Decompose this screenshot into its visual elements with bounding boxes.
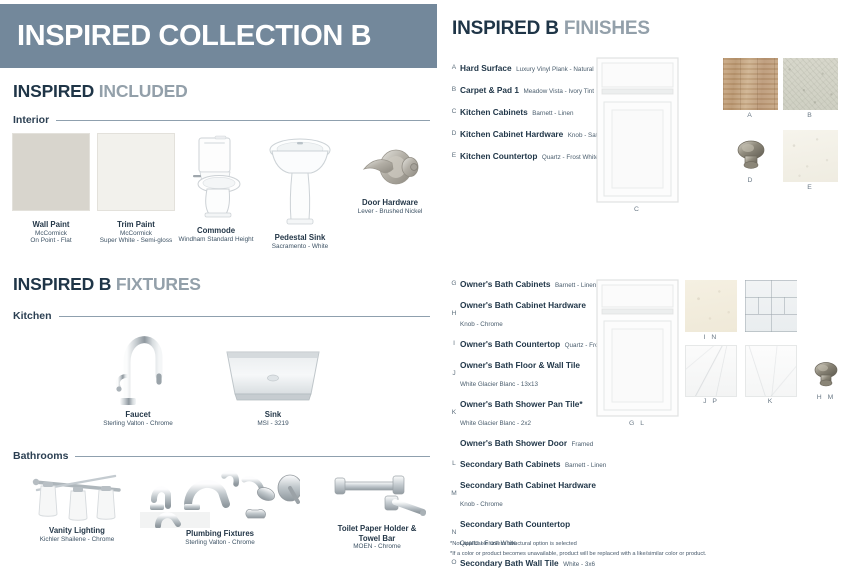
finish-letter: C xyxy=(448,108,460,115)
product-desc-1: Windham Standard Height xyxy=(174,236,258,244)
product-faucet: Faucet Sterling Valton - Chrome xyxy=(88,318,188,427)
finish-sub: Barnett - Linen xyxy=(532,110,573,117)
finish-sub: White - 3x6 xyxy=(563,561,595,568)
left-column: INSPIRED COLLECTION B INSPIRED INCLUDED … xyxy=(0,0,440,569)
door-lever-icon xyxy=(344,138,436,198)
finish-name: Kitchen Countertop xyxy=(460,151,537,161)
page-title: INSPIRED COLLECTION B xyxy=(0,20,371,53)
section-heading-included: INSPIRED INCLUDED xyxy=(13,81,188,102)
swatch-letter: G L xyxy=(595,418,680,427)
section-heading-finishes: INSPIRED B FINISHES xyxy=(452,18,650,40)
heading-word-2: INCLUDED xyxy=(99,81,188,101)
swatch-marble-floor-tile: J P xyxy=(685,345,737,397)
finish-sub: White Glacier Blanc - 2x2 xyxy=(460,420,531,427)
product-toilet-paper-holder: Toilet Paper Holder & Towel Bar MOEN - C… xyxy=(314,470,440,551)
swatch-letter: J P xyxy=(686,396,736,405)
finish-letter: M xyxy=(448,490,460,497)
finish-sub: White Glacier Blanc - 13x13 xyxy=(460,381,538,388)
swatch-subway-tile: O xyxy=(745,280,797,332)
finish-name: Owner's Bath Shower Pan Tile* xyxy=(460,399,583,409)
swatch-cabinet-door-top: C xyxy=(595,56,680,204)
finish-name: Kitchen Cabinets xyxy=(460,107,528,117)
heading-word-2: FINISHES xyxy=(564,18,650,39)
collection-title-bar: INSPIRED COLLECTION B xyxy=(0,4,437,68)
product-name: Wall Paint xyxy=(12,220,90,230)
interior-label: Interior xyxy=(13,114,56,126)
finish-letter: H xyxy=(448,310,460,317)
swatch-letter: B xyxy=(783,110,838,119)
footnote-1: *Not applicable unless structural option… xyxy=(450,540,850,549)
product-desc-1: McCormick xyxy=(97,230,175,238)
product-desc-1: MSI - 3219 xyxy=(218,420,328,428)
finish-sub: Luxury Vinyl Plank - Natural xyxy=(516,66,594,73)
finish-name: Kitchen Cabinet Hardware xyxy=(460,129,563,139)
divider-line xyxy=(56,120,430,121)
product-trim-paint: Trim Paint McCormick Super White - Semi-… xyxy=(97,133,175,245)
finish-sub: Framed xyxy=(572,441,594,448)
product-vanity-lighting: Vanity Lighting Kichler Shailene - Chrom… xyxy=(22,468,132,543)
kitchen-sink-icon-svg xyxy=(221,344,325,406)
footnote-2: *If a color or product becomes unavailab… xyxy=(450,550,850,559)
swatch-quartz-bath: I N xyxy=(685,280,737,332)
toilet-icon xyxy=(174,132,258,220)
towel-bar-icon xyxy=(314,470,440,524)
swatch-wood-plank: A xyxy=(723,58,778,110)
kitchen-sink-icon xyxy=(218,340,328,406)
swatch-cabinet-door-bottom: G L xyxy=(595,278,680,418)
collection-sheet: INSPIRED COLLECTION B INSPIRED INCLUDED … xyxy=(0,0,853,569)
finish-name: Secondary Bath Countertop xyxy=(460,519,570,529)
finish-sub: Knob - Chrome xyxy=(460,321,503,328)
swatch-letter: H M xyxy=(805,392,847,401)
finish-letter: E xyxy=(448,152,460,159)
finish-letter: B xyxy=(448,86,460,93)
finish-letter: N xyxy=(448,529,460,536)
finish-item: M Secondary Bath Cabinet Hardware Knob -… xyxy=(448,475,628,511)
heading-word-1: INSPIRED B xyxy=(13,274,111,294)
toilet-icon-svg xyxy=(185,134,247,220)
swatch-letter: C xyxy=(595,204,680,213)
swatch-letter: K xyxy=(746,396,796,405)
footnotes: *Not applicable unless structural option… xyxy=(450,540,850,559)
finish-name: Owner's Bath Countertop xyxy=(460,339,560,349)
cabinet-knob-icon xyxy=(725,135,777,175)
interior-subheading: Interior xyxy=(13,114,430,126)
product-desc-2: MOEN - Chrome xyxy=(314,543,440,551)
finish-sub: Quartz - Frost White xyxy=(542,154,599,161)
pedestal-sink-icon xyxy=(258,128,342,228)
finish-name: Secondary Bath Cabinets xyxy=(460,459,561,469)
product-name-line2: Towel Bar xyxy=(314,534,440,544)
swatch-knob-bath: H M xyxy=(805,358,847,392)
finish-name: Owner's Bath Floor & Wall Tile xyxy=(460,360,580,370)
swatch-carpet: B xyxy=(783,58,838,110)
product-wall-paint: Wall Paint McCormick On Point - Flat xyxy=(12,133,90,245)
cabinet-door-icon xyxy=(595,278,680,418)
finish-item: L Secondary Bath Cabinets Barnett - Line… xyxy=(448,454,628,472)
finish-sub: Barnett - Linen xyxy=(565,462,606,469)
kitchen-label: Kitchen xyxy=(13,310,59,322)
paint-swatch-icon xyxy=(12,133,90,211)
cabinet-door-icon xyxy=(595,56,680,204)
product-name: Trim Paint xyxy=(97,220,175,230)
finish-name: Owner's Bath Shower Door xyxy=(460,438,567,448)
product-name: Sink xyxy=(218,410,328,420)
finish-letter: A xyxy=(448,64,460,71)
product-desc-2: On Point - Flat xyxy=(12,237,90,245)
plumbing-fixtures-icon-svg xyxy=(140,466,300,528)
divider-line xyxy=(59,316,430,317)
product-name: Commode xyxy=(174,226,258,236)
heading-word-1: INSPIRED xyxy=(13,81,94,101)
finish-name: Owner's Bath Cabinet Hardware xyxy=(460,300,586,310)
finish-name: Hard Surface xyxy=(460,63,512,73)
product-name: Toilet Paper Holder & xyxy=(314,524,440,534)
finish-name: Carpet & Pad 1 xyxy=(460,85,519,95)
cabinet-knob-icon xyxy=(805,358,847,392)
product-desc-1: Sacramento - White xyxy=(258,243,342,251)
finish-sub: Barnett - Linen xyxy=(555,282,596,289)
finish-sub: Meadow Vista - Ivory Tint xyxy=(523,88,594,95)
swatch-letter: E xyxy=(783,182,838,191)
heading-word-2: FIXTURES xyxy=(116,274,201,294)
product-sink: Sink MSI - 3219 xyxy=(218,340,328,427)
finish-letter: I xyxy=(448,340,460,347)
product-desc-1: Lever - Brushed Nickel xyxy=(344,208,436,216)
kitchen-subheading: Kitchen xyxy=(13,310,430,322)
door-lever-icon-svg xyxy=(352,141,428,195)
product-name: Pedestal Sink xyxy=(258,233,342,243)
paint-swatch-icon xyxy=(97,133,175,211)
bathrooms-subheading: Bathrooms xyxy=(13,450,430,462)
product-desc-1: Sterling Valton - Chrome xyxy=(88,420,188,428)
finish-letter: G xyxy=(448,280,460,287)
kitchen-faucet-icon xyxy=(88,318,188,406)
kitchen-faucet-icon-svg xyxy=(103,320,173,406)
product-desc-2: Super White - Semi-gloss xyxy=(97,237,175,245)
product-plumbing-fixtures: Plumbing Fixtures Sterling Valton - Chro… xyxy=(140,466,300,546)
product-pedestal-sink: Pedestal Sink Sacramento - White xyxy=(258,128,342,250)
swatch-letter: D xyxy=(725,175,777,184)
finish-sub: Knob - Chrome xyxy=(460,501,503,508)
divider-line xyxy=(75,456,430,457)
swatch-knob-top: D xyxy=(725,135,777,175)
product-name: Vanity Lighting xyxy=(22,526,132,536)
product-desc-1: Kichler Shailene - Chrome xyxy=(22,536,132,544)
finish-name: Secondary Bath Wall Tile xyxy=(460,558,559,568)
pedestal-sink-icon-svg xyxy=(267,130,333,228)
finish-letter: L xyxy=(448,460,460,467)
finish-name: Owner's Bath Cabinets xyxy=(460,279,551,289)
finish-letter: D xyxy=(448,130,460,137)
product-desc-1: Sterling Valton - Chrome xyxy=(140,539,300,547)
product-commode: Commode Windham Standard Height xyxy=(174,132,258,243)
bathrooms-label: Bathrooms xyxy=(13,450,75,462)
product-name: Door Hardware xyxy=(344,198,436,208)
product-name: Faucet xyxy=(88,410,188,420)
product-name: Plumbing Fixtures xyxy=(140,529,300,539)
towel-bar-icon-svg xyxy=(327,472,427,522)
finish-letter: J xyxy=(448,370,460,377)
finish-item: Owner's Bath Shower Door Framed xyxy=(448,433,628,451)
finish-letter: O xyxy=(448,559,460,566)
vanity-light-icon-svg xyxy=(27,468,127,524)
swatch-marble-shower-tile: K xyxy=(745,345,797,397)
heading-word-1: INSPIRED B xyxy=(452,18,559,39)
swatch-quartz-top: E xyxy=(783,130,838,182)
finish-name: Secondary Bath Cabinet Hardware xyxy=(460,480,596,490)
finish-letter: K xyxy=(448,409,460,416)
right-column: INSPIRED B FINISHES A Hard Surface Luxur… xyxy=(440,0,853,569)
section-heading-fixtures: INSPIRED B FIXTURES xyxy=(13,274,201,295)
swatch-letter: A xyxy=(723,110,778,119)
swatch-letter: I N xyxy=(685,332,737,341)
plumbing-fixtures-icon xyxy=(140,466,300,528)
vanity-light-icon xyxy=(22,468,132,526)
product-desc-1: McCormick xyxy=(12,230,90,238)
product-door-hardware: Door Hardware Lever - Brushed Nickel xyxy=(344,138,436,215)
